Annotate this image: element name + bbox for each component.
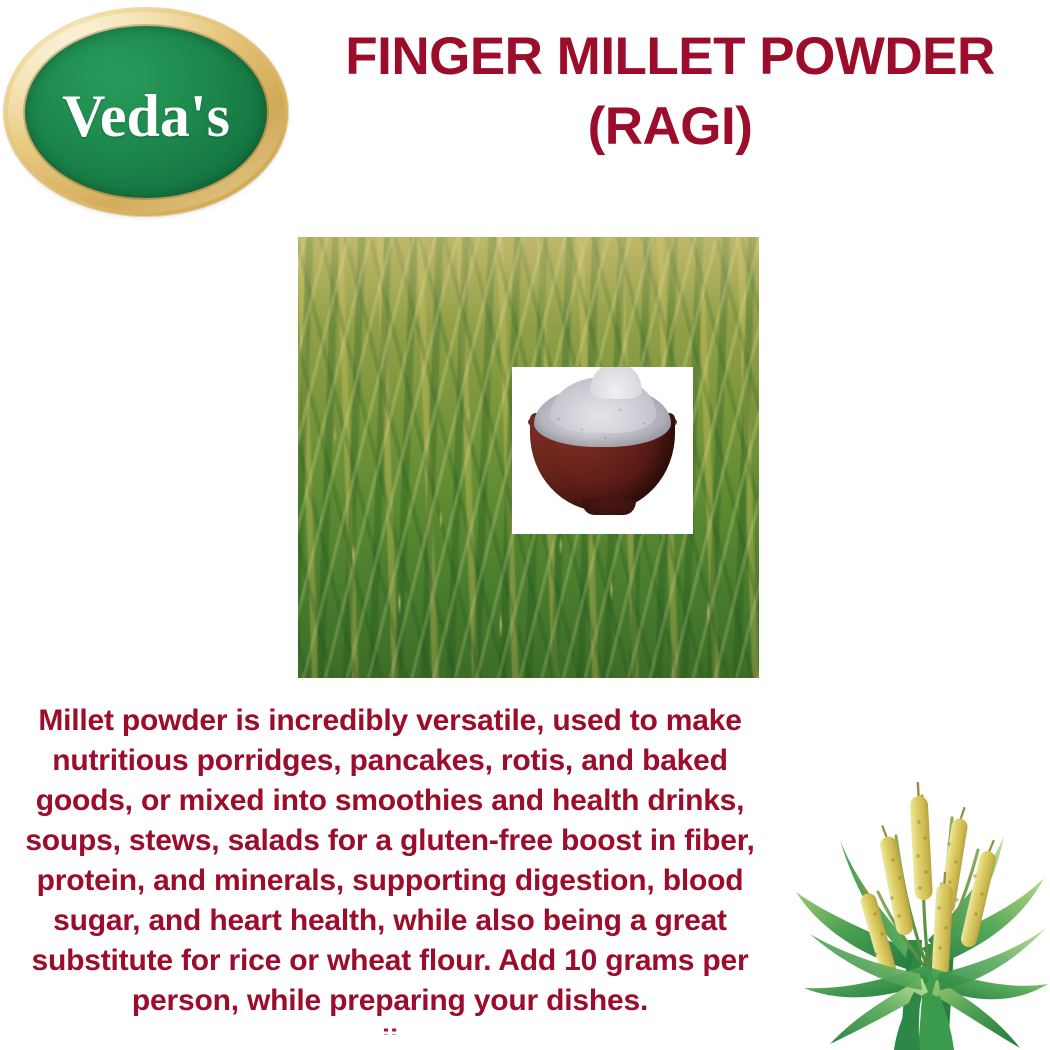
product-infographic-page: Veda's FINGER MILLET POWDER (RAGI) (0, 0, 1050, 1050)
page-title: FINGER MILLET POWDER (RAGI) (300, 22, 1040, 162)
description-line: goods, or mixed into smoothies and healt… (8, 781, 772, 821)
millet-plant-illustration (782, 752, 1050, 1050)
description-line: nutritious porridges, pancakes, rotis, a… (8, 741, 772, 781)
flour-bowl-icon (524, 383, 681, 520)
description-clipped-line: ii (8, 1021, 772, 1035)
brand-logo: Veda's (0, 2, 296, 224)
bowl-foot (582, 499, 636, 515)
description-line: person, while preparing your dishes. (8, 981, 772, 1021)
millet-field-photo (298, 237, 759, 678)
logo-wordmark: Veda's (62, 86, 230, 146)
description-line: soups, stews, salads for a gluten-free b… (8, 821, 772, 861)
description-line: protein, and minerals, supporting digest… (8, 861, 772, 901)
description-line: Millet powder is incredibly versatile, u… (8, 701, 772, 741)
description-paragraph: Millet powder is incredibly versatile, u… (8, 701, 772, 1035)
description-line: sugar, and heart health, while also bein… (8, 901, 772, 941)
page-title-line-1: FINGER MILLET POWDER (300, 22, 1040, 92)
flour-heap (534, 385, 671, 447)
ragi-flour-bowl-photo (512, 367, 693, 534)
page-title-line-2: (RAGI) (300, 92, 1040, 162)
logo-green-oval-icon: Veda's (25, 26, 267, 198)
flour-specks (534, 385, 671, 447)
description-line: substitute for rice or wheat flour. Add … (8, 941, 772, 981)
